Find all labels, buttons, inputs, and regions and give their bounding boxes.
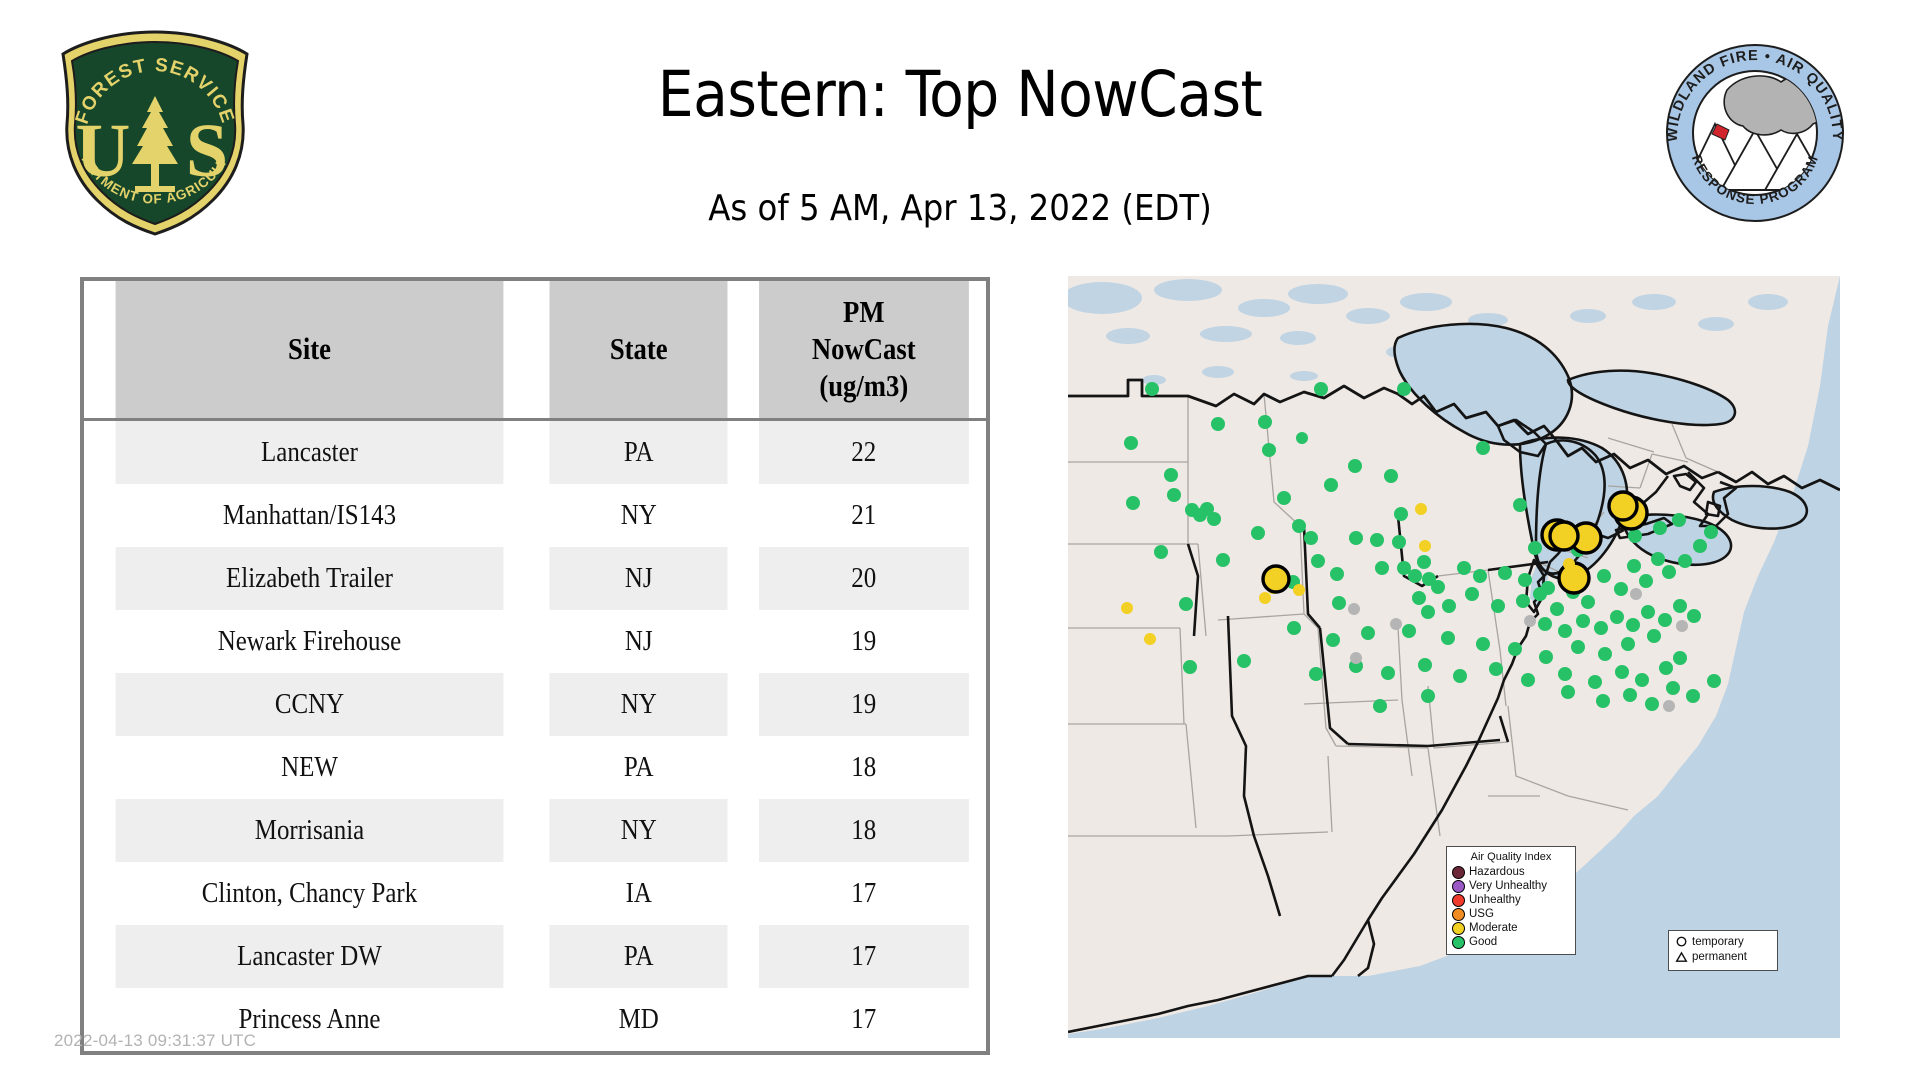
monitor-dot[interactable] <box>1541 581 1555 595</box>
monitor-dot[interactable] <box>1663 700 1675 712</box>
aqi-swatch-icon <box>1452 894 1465 907</box>
monitor-dot[interactable] <box>1293 584 1305 596</box>
monitor-dot[interactable] <box>1561 685 1575 699</box>
aqi-legend-row: Very Unhealthy <box>1452 879 1570 893</box>
monitor-dot[interactable] <box>1623 688 1637 702</box>
monitor-dot[interactable] <box>1442 599 1456 613</box>
monitor-dot[interactable] <box>1263 566 1289 592</box>
pm-cell: 17 <box>760 988 969 1051</box>
monitor-dot[interactable] <box>1309 667 1323 681</box>
aqi-legend-row: Hazardous <box>1452 865 1570 879</box>
monitor-dot[interactable] <box>1167 488 1181 502</box>
top-nowcast-table-panel: Site State PM NowCast (ug/m3) LancasterP… <box>80 277 990 1055</box>
monitor-dot[interactable] <box>1687 609 1701 623</box>
aqi-legend-row: USG <box>1452 907 1570 921</box>
table-row: MorrisaniaNY18 <box>84 799 986 862</box>
monitor-dot[interactable] <box>1145 382 1159 396</box>
monitor-dot[interactable] <box>1402 624 1416 638</box>
aqi-legend-label: Very Unhealthy <box>1469 880 1547 893</box>
monitor-dot[interactable] <box>1627 559 1641 573</box>
page-title: Eastern: Top NowCast <box>360 60 1560 130</box>
monitor-dot[interactable] <box>1596 694 1610 708</box>
monitor-dot[interactable] <box>1441 631 1455 645</box>
site-type-legend: temporary permanent <box>1668 930 1778 971</box>
pm-cell: 19 <box>760 610 969 673</box>
monitor-dot[interactable] <box>1628 529 1642 543</box>
monitor-dot[interactable] <box>1704 525 1718 539</box>
monitor-dot[interactable] <box>1465 587 1479 601</box>
state-cell: IA <box>550 862 728 925</box>
monitor-dot[interactable] <box>1311 554 1325 568</box>
aqi-legend-label: Good <box>1469 936 1497 949</box>
state-cell: PA <box>550 925 728 988</box>
monitor-dot[interactable] <box>1126 496 1140 510</box>
pm-cell: 20 <box>760 547 969 610</box>
monitor-dot[interactable] <box>1144 633 1156 645</box>
aqi-swatch-icon <box>1452 936 1465 949</box>
state-cell: NY <box>550 673 728 736</box>
table-row: NEWPA18 <box>84 736 986 799</box>
monitor-dot[interactable] <box>1397 382 1411 396</box>
legend-label-permanent: permanent <box>1692 951 1747 964</box>
monitor-dot[interactable] <box>1415 503 1427 515</box>
aqi-swatch-icon <box>1452 866 1465 879</box>
monitor-dot[interactable] <box>1179 597 1193 611</box>
monitor-dot[interactable] <box>1408 569 1422 583</box>
monitor-dot[interactable] <box>1558 667 1572 681</box>
site-cell: Manhattan/IS143 <box>116 484 504 547</box>
monitor-dot[interactable] <box>1287 621 1301 635</box>
wfaqrp-logo: WILDLAND FIRE • AIR QUALITY RESPONSE PRO… <box>1655 38 1855 228</box>
table-row: Newark FirehouseNJ19 <box>84 610 986 673</box>
monitor-dot[interactable] <box>1124 436 1138 450</box>
pm-cell: 21 <box>760 484 969 547</box>
monitor-dot[interactable] <box>1332 596 1346 610</box>
table-row: Manhattan/IS143NY21 <box>84 484 986 547</box>
monitor-dot[interactable] <box>1621 637 1635 651</box>
state-cell: NJ <box>550 547 728 610</box>
monitor-dot[interactable] <box>1647 629 1661 643</box>
table-row: Elizabeth TrailerNJ20 <box>84 547 986 610</box>
monitor-dot[interactable] <box>1326 633 1340 647</box>
monitor-dot[interactable] <box>1615 665 1629 679</box>
monitor-dot[interactable] <box>1550 602 1564 616</box>
permanent-triangle-icon <box>1675 951 1688 964</box>
monitor-dot[interactable] <box>1538 617 1552 631</box>
monitor-dot[interactable] <box>1412 591 1426 605</box>
monitor-dot[interactable] <box>1707 674 1721 688</box>
legend-row-permanent: permanent <box>1675 950 1773 965</box>
pm-cell: 19 <box>760 673 969 736</box>
monitor-dot[interactable] <box>1559 563 1589 593</box>
temporary-circle-icon <box>1675 936 1688 949</box>
monitor-dot[interactable] <box>1330 567 1344 581</box>
monitor-dot[interactable] <box>1350 652 1362 664</box>
monitor-dot[interactable] <box>1528 541 1542 555</box>
aqi-swatch-icon <box>1452 908 1465 921</box>
pm-cell: 18 <box>760 736 969 799</box>
monitor-dot[interactable] <box>1513 498 1527 512</box>
aqi-swatch-icon <box>1452 880 1465 893</box>
aqi-legend-row: Good <box>1452 935 1570 949</box>
column-header-pm-line1: PM <box>763 293 966 330</box>
monitor-dot[interactable] <box>1550 522 1578 550</box>
top-nowcast-table: Site State PM NowCast (ug/m3) LancasterP… <box>84 281 986 1051</box>
monitor-dot[interactable] <box>1610 610 1624 624</box>
monitor-dot[interactable] <box>1498 566 1512 580</box>
monitor-dot[interactable] <box>1296 432 1308 444</box>
monitor-dot[interactable] <box>1348 603 1360 615</box>
monitor-dot[interactable] <box>1558 624 1572 638</box>
monitor-dot[interactable] <box>1673 599 1687 613</box>
monitor-dot[interactable] <box>1251 526 1265 540</box>
pm-cell: 22 <box>760 420 969 485</box>
table-row: Clinton, Chancy ParkIA17 <box>84 862 986 925</box>
monitor-dot[interactable] <box>1597 569 1611 583</box>
state-cell: NJ <box>550 610 728 673</box>
aqi-legend-label: USG <box>1469 908 1494 921</box>
state-cell: MD <box>550 988 728 1051</box>
monitor-dot[interactable] <box>1491 599 1505 613</box>
column-header-state: State <box>550 281 728 420</box>
monitor-dot[interactable] <box>1370 533 1384 547</box>
aqi-legend-row: Unhealthy <box>1452 893 1570 907</box>
legend-row-temporary: temporary <box>1675 935 1773 950</box>
monitor-dot[interactable] <box>1457 561 1471 575</box>
monitor-dot[interactable] <box>1375 561 1389 575</box>
aqi-legend-label: Moderate <box>1469 922 1518 935</box>
monitor-dot[interactable] <box>1635 673 1649 687</box>
air-quality-map[interactable]: Air Quality Index HazardousVery Unhealth… <box>1068 276 1840 1038</box>
monitor-dot[interactable] <box>1349 531 1363 545</box>
monitor-dot[interactable] <box>1651 552 1665 566</box>
monitor-dot[interactable] <box>1594 621 1608 635</box>
monitor-dot[interactable] <box>1473 569 1487 583</box>
aqi-legend-title: Air Quality Index <box>1452 851 1570 863</box>
page-subtitle: As of 5 AM, Apr 13, 2022 (EDT) <box>360 187 1560 231</box>
monitor-dot[interactable] <box>1384 469 1398 483</box>
generated-timestamp: 2022-04-13 09:31:37 UTC <box>54 1031 256 1051</box>
pm-cell: 17 <box>760 862 969 925</box>
monitor-dot[interactable] <box>1666 681 1680 695</box>
monitor-dot[interactable] <box>1678 554 1692 568</box>
monitor-dot[interactable] <box>1645 697 1659 711</box>
monitor-dot[interactable] <box>1381 666 1395 680</box>
monitor-dot[interactable] <box>1419 540 1431 552</box>
monitor-dot[interactable] <box>1576 614 1590 628</box>
aqi-swatch-icon <box>1452 922 1465 935</box>
table-row: Lancaster DWPA17 <box>84 925 986 988</box>
monitor-dot[interactable] <box>1361 626 1375 640</box>
svg-text:U: U <box>76 109 131 193</box>
monitor-dot[interactable] <box>1237 654 1251 668</box>
monitor-dot[interactable] <box>1476 441 1490 455</box>
monitor-dot[interactable] <box>1588 675 1602 689</box>
state-cell: NY <box>550 799 728 862</box>
monitor-dot[interactable] <box>1508 642 1522 656</box>
aqi-legend: Air Quality Index HazardousVery Unhealth… <box>1446 846 1576 955</box>
monitor-dot[interactable] <box>1516 594 1530 608</box>
monitor-dot[interactable] <box>1453 669 1467 683</box>
monitor-dot[interactable] <box>1476 637 1490 651</box>
monitor-dot[interactable] <box>1348 459 1362 473</box>
column-header-pm-line2: NowCast <box>763 330 966 367</box>
monitor-dot[interactable] <box>1262 443 1276 457</box>
monitor-dot[interactable] <box>1373 699 1387 713</box>
svg-text:S: S <box>186 109 228 193</box>
monitor-dot[interactable] <box>1258 415 1272 429</box>
aqi-legend-label: Hazardous <box>1469 866 1525 879</box>
pm-cell: 17 <box>760 925 969 988</box>
monitor-dot[interactable] <box>1581 595 1595 609</box>
monitor-dot[interactable] <box>1392 535 1406 549</box>
site-cell: Lancaster <box>116 420 504 485</box>
monitor-dot[interactable] <box>1314 382 1328 396</box>
monitor-dot[interactable] <box>1653 521 1667 535</box>
legend-label-temporary: temporary <box>1692 936 1744 949</box>
monitor-dot[interactable] <box>1421 605 1435 619</box>
state-cell: NY <box>550 484 728 547</box>
site-cell: Clinton, Chancy Park <box>116 862 504 925</box>
monitor-dot[interactable] <box>1672 513 1686 527</box>
monitor-dot[interactable] <box>1639 574 1653 588</box>
monitor-dot[interactable] <box>1658 613 1672 627</box>
monitor-dot[interactable] <box>1216 553 1230 567</box>
monitor-dot[interactable] <box>1292 519 1306 533</box>
monitor-dot[interactable] <box>1693 539 1707 553</box>
monitor-dot[interactable] <box>1259 592 1271 604</box>
monitor-dot[interactable] <box>1659 661 1673 675</box>
monitor-dot[interactable] <box>1630 588 1642 600</box>
column-header-pm-nowcast: PM NowCast (ug/m3) <box>760 281 969 420</box>
site-cell: NEW <box>116 736 504 799</box>
site-cell: Lancaster DW <box>116 925 504 988</box>
site-cell: Elizabeth Trailer <box>116 547 504 610</box>
monitor-dot[interactable] <box>1524 615 1536 627</box>
monitor-dot[interactable] <box>1489 662 1503 676</box>
monitor-dot[interactable] <box>1673 651 1687 665</box>
monitor-dot[interactable] <box>1418 658 1432 672</box>
monitor-dot[interactable] <box>1421 689 1435 703</box>
monitor-dot[interactable] <box>1563 558 1575 570</box>
aqi-legend-row: Moderate <box>1452 921 1570 935</box>
site-cell: Morrisania <box>116 799 504 862</box>
aqi-legend-label: Unhealthy <box>1469 894 1521 907</box>
site-cell: CCNY <box>116 673 504 736</box>
monitor-dot[interactable] <box>1598 647 1612 661</box>
column-header-pm-line3: (ug/m3) <box>763 367 966 404</box>
monitor-dot[interactable] <box>1641 605 1655 619</box>
table-row: CCNYNY19 <box>84 673 986 736</box>
monitor-dot[interactable] <box>1614 582 1628 596</box>
monitor-dot[interactable] <box>1518 573 1532 587</box>
monitor-dot[interactable] <box>1207 512 1221 526</box>
table-header-row: Site State PM NowCast (ug/m3) <box>84 281 986 420</box>
monitor-dot[interactable] <box>1183 660 1197 674</box>
monitor-dot[interactable] <box>1609 492 1637 520</box>
monitor-dot[interactable] <box>1676 620 1688 632</box>
monitor-dot[interactable] <box>1417 555 1431 569</box>
monitor-dot[interactable] <box>1304 531 1318 545</box>
monitor-dot[interactable] <box>1394 507 1408 521</box>
column-header-site: Site <box>116 281 504 420</box>
pm-cell: 18 <box>760 799 969 862</box>
table-row: LancasterPA22 <box>84 420 986 485</box>
monitor-dot[interactable] <box>1571 640 1585 654</box>
monitor-dot[interactable] <box>1539 650 1553 664</box>
state-cell: PA <box>550 420 728 485</box>
monitor-dot[interactable] <box>1121 602 1133 614</box>
monitor-dot[interactable] <box>1431 580 1445 594</box>
usfs-shield-logo: FOREST SERVICE DEPARTMENT OF AGRICULTURE… <box>55 28 255 238</box>
monitor-dot[interactable] <box>1390 618 1402 630</box>
monitor-dot[interactable] <box>1324 478 1338 492</box>
monitor-dot[interactable] <box>1626 618 1640 632</box>
monitor-dot[interactable] <box>1154 545 1168 559</box>
monitor-dot[interactable] <box>1277 491 1291 505</box>
monitor-dot[interactable] <box>1164 468 1178 482</box>
monitor-dot[interactable] <box>1662 565 1676 579</box>
monitor-dot[interactable] <box>1211 417 1225 431</box>
monitor-dot[interactable] <box>1521 673 1535 687</box>
state-cell: PA <box>550 736 728 799</box>
site-cell: Newark Firehouse <box>116 610 504 673</box>
monitor-dot[interactable] <box>1686 689 1700 703</box>
